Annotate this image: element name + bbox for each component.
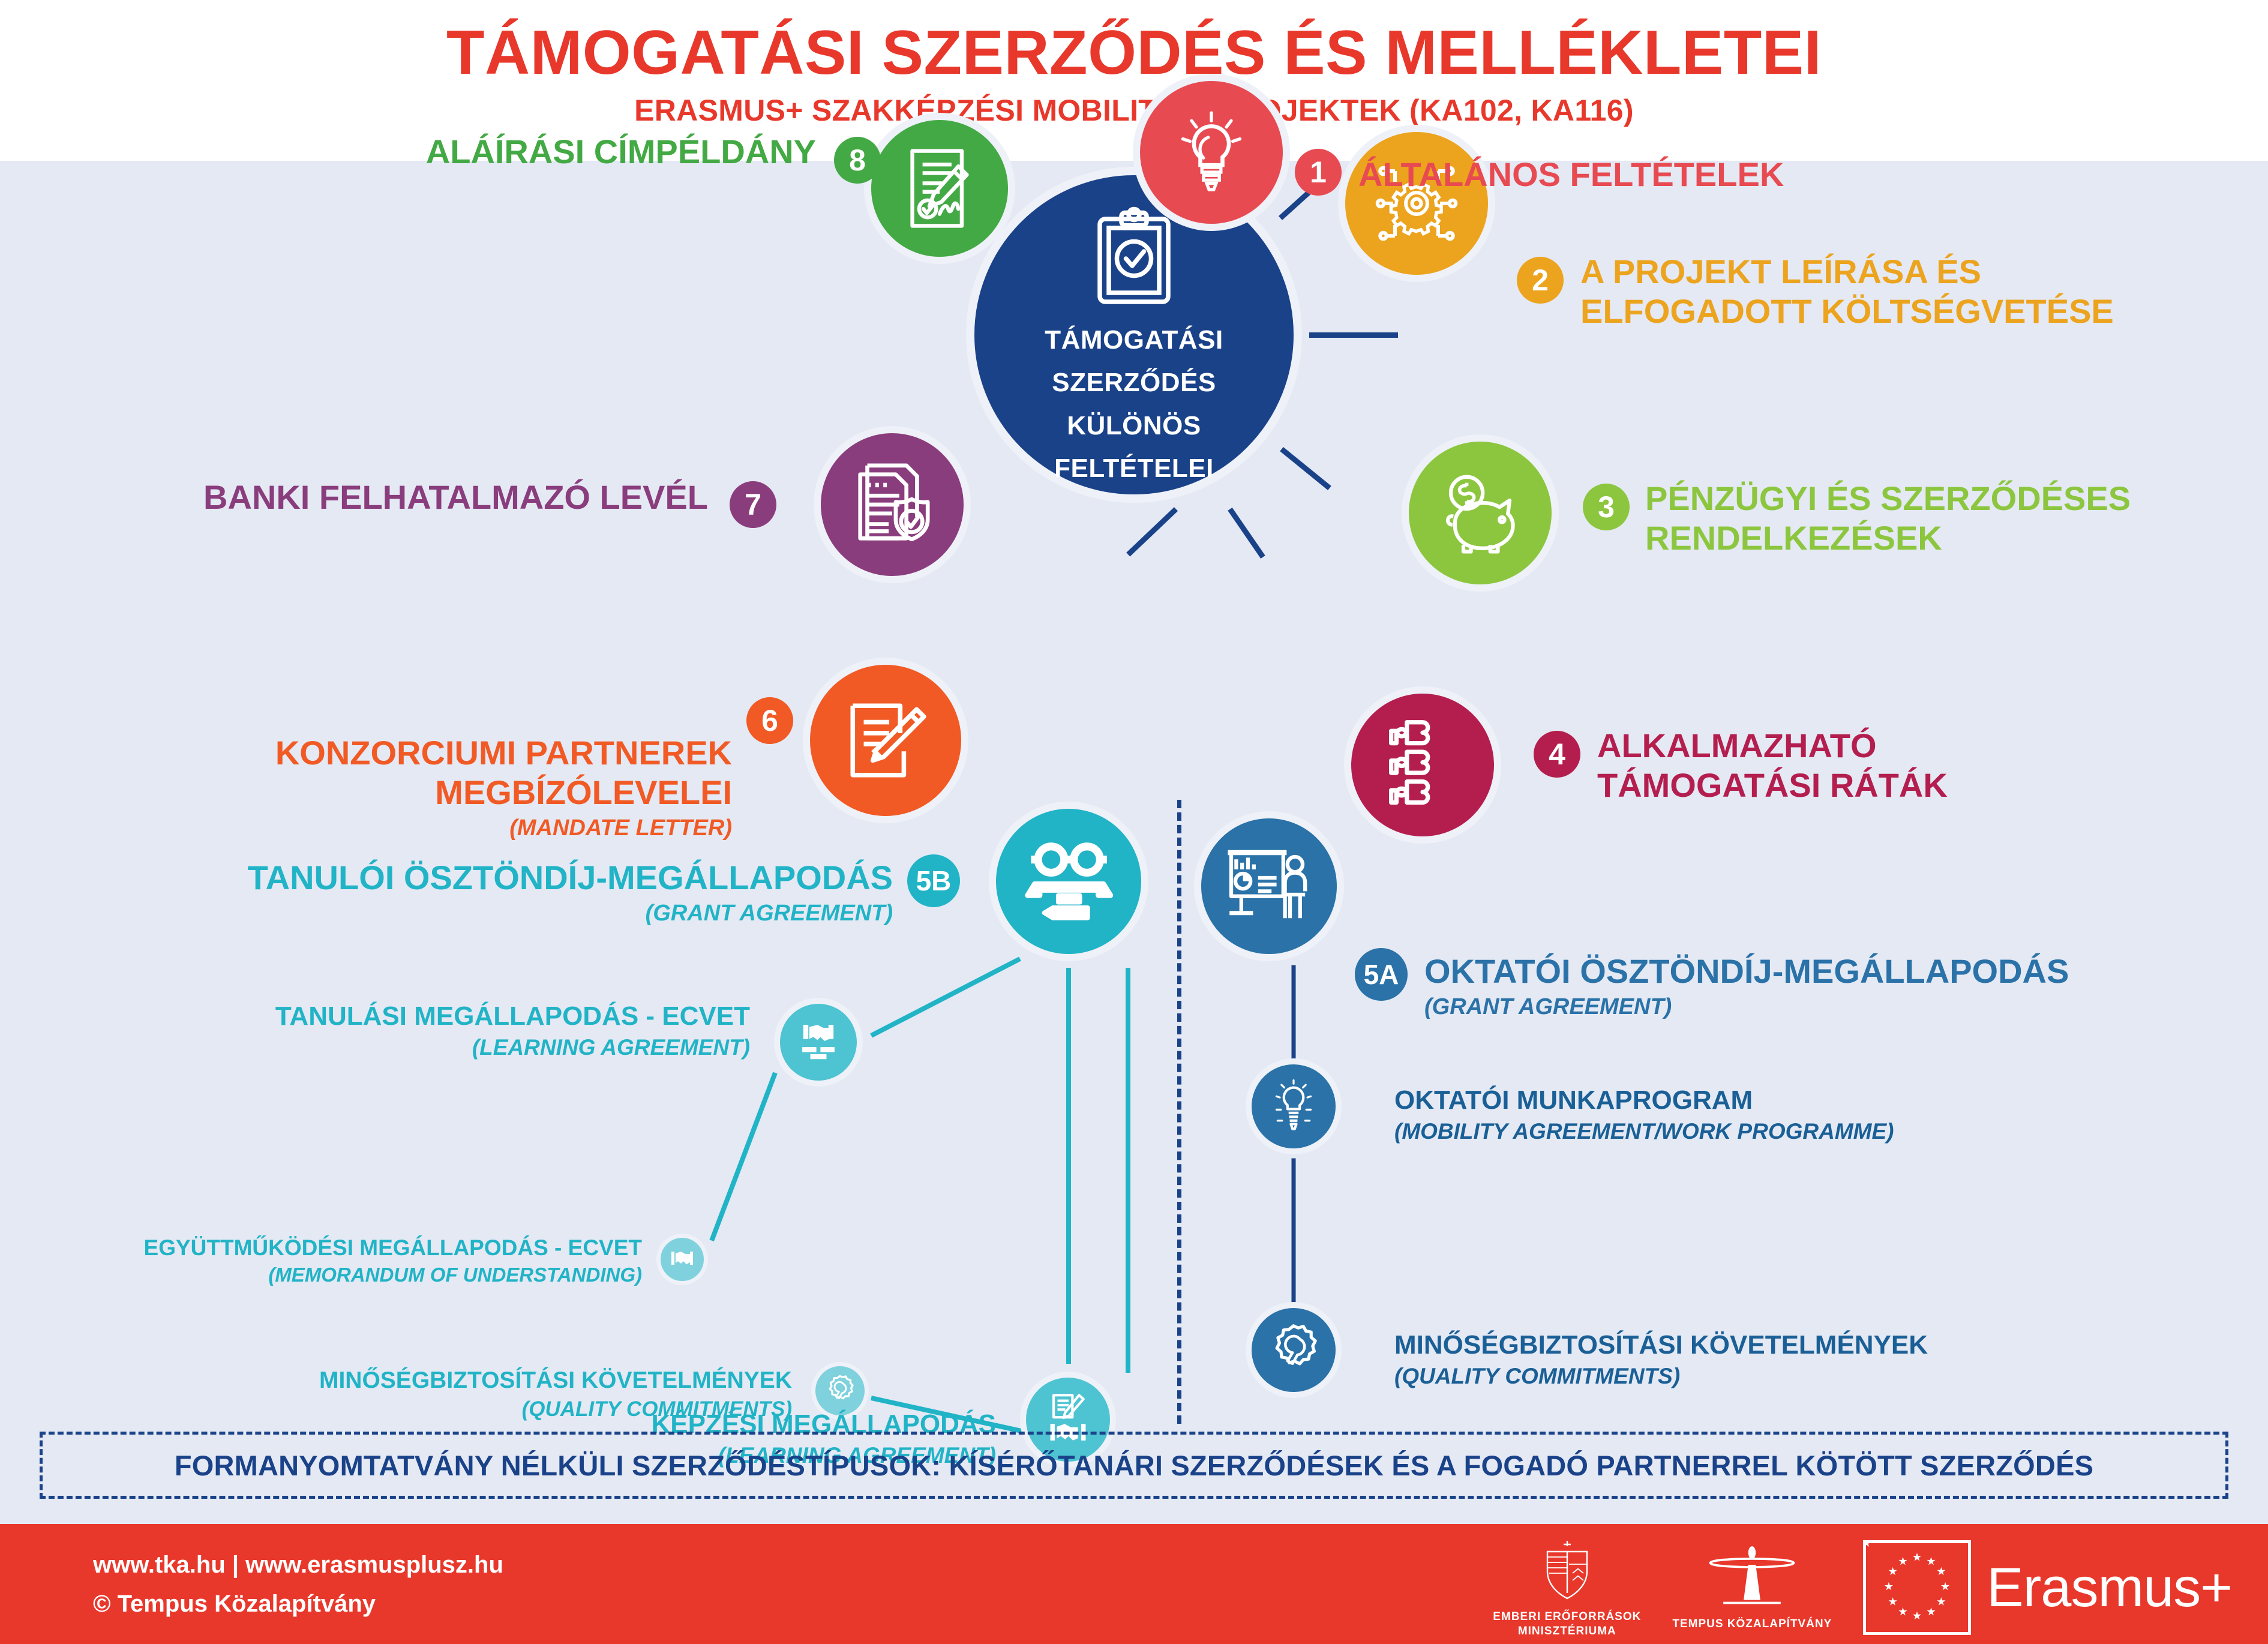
label-4-alkalmazhato-ratak: ALKALMAZHATÓ TÁMOGATÁSI RÁTÁK xyxy=(1597,726,1948,805)
label-6-main: KONZORCIUMI PARTNEREK MEGBÍZÓLEVELEI xyxy=(275,734,732,811)
connector-line xyxy=(1228,507,1265,558)
label-sub-minoseg-jobb-sub: (QUALITY COMMITMENTS) xyxy=(1394,1363,1928,1390)
note-box: FORMANYOMTATVÁNY NÉLKÜLI SZERZŐDÉSTÍPUSO… xyxy=(40,1432,2228,1499)
page-subtitle: ERASMUS+ SZAKKÉPZÉSI MOBILITÁSI PROJEKTE… xyxy=(0,86,2268,127)
piggy-bank-icon xyxy=(1433,471,1528,555)
note-text: FORMANYOMTATVÁNY NÉLKÜLI SZERZŐDÉSTÍPUSO… xyxy=(175,1449,2093,1482)
bubble-3-penzugyi-rendelkezesek[interactable] xyxy=(1402,434,1559,592)
eu-flag-icon xyxy=(1863,1540,1971,1635)
badge-4: 4 xyxy=(1534,731,1580,778)
bubble-8-alairasi-cimpeldany[interactable] xyxy=(864,113,1015,264)
label-sub-egyuttmukodesi-main: EGYÜTTMŰKÖDÉSI MEGÁLLAPODÁS - ECVET xyxy=(144,1235,642,1260)
footer-copyright: © Tempus Közalapítvány xyxy=(93,1585,503,1624)
label-6-sub: (MANDATE LETTER) xyxy=(132,815,732,842)
badge-5b: 5B xyxy=(907,854,960,907)
label-sub-oktatoi-main: OKTATÓI MUNKAPROGRAM xyxy=(1394,1085,1753,1115)
connector-line xyxy=(1066,968,1071,1364)
erasmus-wordmark: Erasmus+ xyxy=(1987,1556,2232,1619)
bubble-7-banki-felhatalmazo[interactable] xyxy=(814,426,971,583)
erasmus-logo: Erasmus+ xyxy=(1863,1540,2232,1635)
label-sub-egyuttmukodesi: EGYÜTTMŰKÖDÉSI MEGÁLLAPODÁS - ECVET (MEM… xyxy=(72,1235,642,1287)
badge-6-circle: 6 xyxy=(746,697,793,744)
hub-line-2: SZERZŐDÉS xyxy=(1045,361,1223,404)
label-8-alairasi-cimpeldany: ALÁÍRÁSI CÍMPÉLDÁNY xyxy=(216,132,816,172)
badge-1: 1 xyxy=(1295,149,1342,196)
vertical-divider xyxy=(1177,800,1181,1424)
label-7-banki-felhatalmazo: BANKI FELHATALMAZÓ LEVÉL xyxy=(108,478,708,517)
label-1-altalanos-feltetelek: ÁLTALÁNOS FELTÉTELEK xyxy=(1358,155,1784,194)
footer-urls[interactable]: www.tka.hu | www.erasmusplusz.hu xyxy=(93,1546,503,1585)
bubble-6-konzorciumi-partnerek[interactable] xyxy=(803,658,968,823)
glasses-book-pencil-icon xyxy=(1021,836,1117,926)
label-sub-oktatoi-sub: (MOBILITY AGREEMENT/WORK PROGRAMME) xyxy=(1394,1118,1894,1145)
gear-wrench-icon xyxy=(1266,1321,1321,1379)
mini-tanulasi-megallapodas[interactable] xyxy=(774,998,863,1087)
label-sub-tanulasi-main: TANULÁSI MEGÁLLAPODÁS - ECVET xyxy=(275,1001,750,1031)
connector-line xyxy=(870,956,1021,1037)
label-sub-minoseg-bal-main: MINŐSÉGBIZTOSÍTÁSI KÖVETELMÉNYEK xyxy=(319,1367,792,1393)
connector-line xyxy=(1292,1158,1296,1302)
mini-oktatoi-munkaprogram[interactable] xyxy=(1246,1058,1342,1154)
lightbulb-icon xyxy=(1172,110,1251,194)
footer-text-block: www.tka.hu | www.erasmusplusz.hu © Tempu… xyxy=(93,1546,503,1624)
presentation-icon xyxy=(1224,844,1314,928)
connector-line xyxy=(1292,965,1296,1061)
badge-7: 7 xyxy=(730,481,776,528)
label-5b-sub: (GRANT AGREEMENT) xyxy=(180,900,893,927)
mini-egyuttmukodesi-megallapodas[interactable] xyxy=(656,1234,708,1285)
hungary-coat-of-arms-icon xyxy=(1542,1537,1592,1605)
label-sub-minoseg-jobb-main: MINŐSÉGBIZTOSÍTÁSI KÖVETELMÉNYEK xyxy=(1394,1330,1928,1360)
label-2-projekt-leirasa: A PROJEKT LEÍRÁSA ÉS ELFOGADOTT KÖLTSÉGV… xyxy=(1580,252,2114,331)
connector-line xyxy=(1126,968,1130,1373)
footer-logos: EMBERI ERŐFORRÁSOK MINISZTÉRIUMA TEMPUS … xyxy=(1493,1537,2232,1639)
connector-line xyxy=(1309,332,1398,338)
hub-label-stack: TÁMOGATÁSI SZERZŐDÉS KÜLÖNÖS FELTÉTELEI xyxy=(1045,319,1223,490)
tempus-obelisk-icon xyxy=(1699,1544,1805,1612)
gear-wrench-icon xyxy=(823,1372,857,1410)
bubble-2-projekt-leirasa[interactable] xyxy=(1338,125,1495,282)
tempus-caption: TEMPUS KÖZALAPÍTVÁNY xyxy=(1672,1617,1832,1631)
handshake-icon xyxy=(667,1243,697,1276)
label-3-penzugyi-rendelkezesek: PÉNZÜGYI ÉS SZERZŐDÉSES RENDELKEZÉSEK xyxy=(1645,479,2131,558)
diagram-canvas: TÁMOGATÁSI SZERZŐDÉS KÜLÖNÖS FELTÉTELEI xyxy=(0,161,2268,1524)
hub-line-3: KÜLÖNÖS xyxy=(1045,404,1223,447)
emmi-logo: EMBERI ERŐFORRÁSOK MINISZTÉRIUMA xyxy=(1493,1537,1641,1639)
badge-5a: 5A xyxy=(1355,948,1408,1001)
label-5a-sub: (GRANT AGREEMENT) xyxy=(1424,994,2069,1021)
clipboard-check-icon xyxy=(1089,206,1179,310)
connector-line xyxy=(1126,507,1178,557)
label-sub-tanulasi-sub: (LEARNING AGREEMENT) xyxy=(168,1034,750,1061)
connector-line xyxy=(709,1072,777,1242)
label-sub-tanulasi-megallapodas: TANULÁSI MEGÁLLAPODÁS - ECVET (LEARNING … xyxy=(168,1001,750,1061)
emmi-line-1: EMBERI ERŐFORRÁSOK xyxy=(1493,1610,1641,1624)
emmi-line-2: MINISZTÉRIUMA xyxy=(1493,1624,1641,1639)
hub-line-1: TÁMOGATÁSI xyxy=(1045,319,1223,361)
badge-8: 8 xyxy=(834,137,881,184)
mini-minosegbiztositasi-jobb[interactable] xyxy=(1246,1302,1342,1398)
page-title: TÁMOGATÁSI SZERZŐDÉS ÉS MELLÉKLETEI xyxy=(0,0,2268,86)
handshake-book-icon xyxy=(793,1016,844,1069)
puzzle-icon xyxy=(1387,717,1459,813)
label-5a-main: OKTATÓI ÖSZTÖNDÍJ-MEGÁLLAPODÁS xyxy=(1424,952,2069,990)
label-5a-oktatoi-osztondij: OKTATÓI ÖSZTÖNDÍJ-MEGÁLLAPODÁS (GRANT AG… xyxy=(1424,952,2069,1021)
label-6-konzorciumi-partnerek: KONZORCIUMI PARTNEREK MEGBÍZÓLEVELEI (MA… xyxy=(132,694,732,881)
bubble-5a-oktatoi-osztondij[interactable] xyxy=(1194,811,1344,961)
lightbulb-pencil-icon xyxy=(1268,1078,1319,1136)
tempus-logo: TEMPUS KÖZALAPÍTVÁNY xyxy=(1672,1544,1832,1631)
emmi-caption: EMBERI ERŐFORRÁSOK MINISZTÉRIUMA xyxy=(1493,1610,1641,1639)
page-footer: www.tka.hu | www.erasmusplusz.hu © Tempu… xyxy=(0,1524,2268,1644)
bubble-1-altalanos-feltetelek[interactable] xyxy=(1133,74,1290,231)
bubble-5b-tanuloi-osztondij[interactable] xyxy=(989,802,1148,961)
bubble-4-alkalmazhato-ratak[interactable] xyxy=(1344,686,1501,844)
document-shield-icon xyxy=(848,460,937,550)
signed-document-icon xyxy=(897,143,982,233)
label-sub-egyuttmukodesi-sub: (MEMORANDUM OF UNDERSTANDING) xyxy=(72,1264,642,1287)
connector-line xyxy=(1280,447,1331,490)
badge-3: 3 xyxy=(1583,484,1630,530)
label-sub-oktatoi-munkaprogram: OKTATÓI MUNKAPROGRAM (MOBILITY AGREEMENT… xyxy=(1394,1085,1894,1145)
hub-line-4: FELTÉTELEI xyxy=(1045,447,1223,490)
document-pencil-icon xyxy=(840,695,931,786)
label-sub-minosegbiztositasi-jobb: MINŐSÉGBIZTOSÍTÁSI KÖVETELMÉNYEK (QUALIT… xyxy=(1394,1330,1928,1390)
badge-2: 2 xyxy=(1517,257,1564,304)
